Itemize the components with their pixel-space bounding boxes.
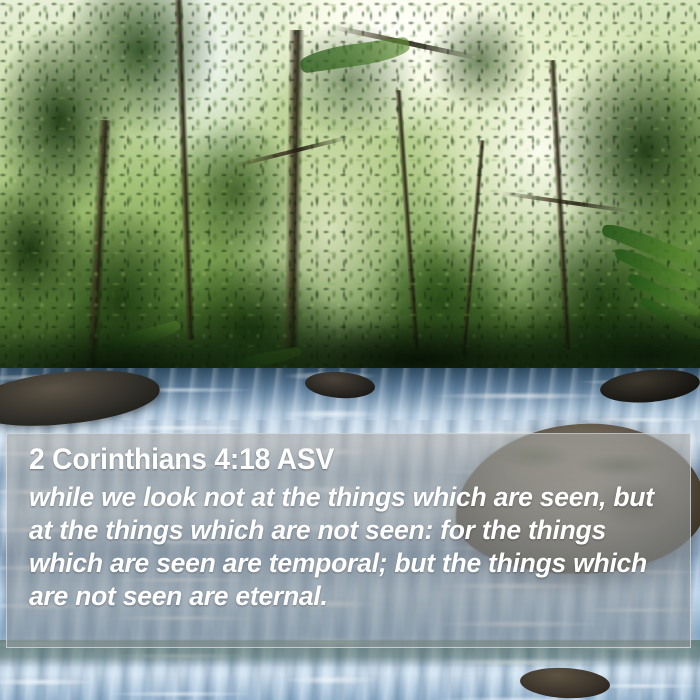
verse-overlay-panel: 2 Corinthians 4:18 ASV while we look not…	[6, 433, 691, 648]
verse-reference: 2 Corinthians 4:18 ASV	[29, 444, 635, 476]
verse-image-canvas: 2 Corinthians 4:18 ASV while we look not…	[0, 0, 700, 700]
verse-body-text: while we look not at the things which ar…	[29, 481, 674, 613]
